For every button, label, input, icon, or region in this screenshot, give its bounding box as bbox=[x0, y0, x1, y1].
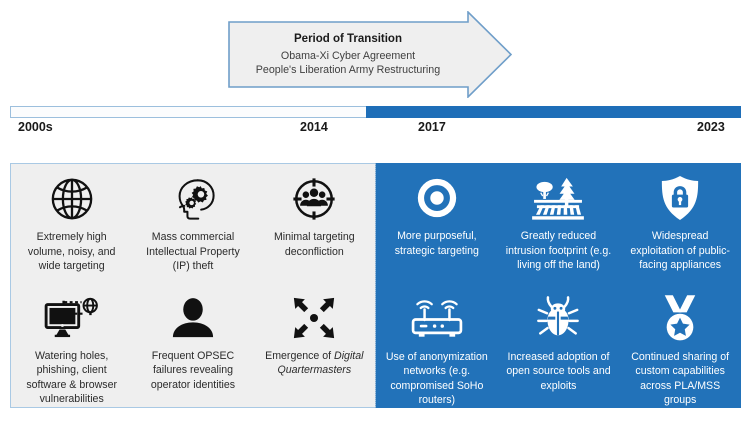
bug-icon bbox=[535, 293, 581, 345]
cell-label: Minimal targeting deconfliction bbox=[254, 230, 375, 259]
panel-post-2017: More purposeful, strategic targeting bbox=[376, 163, 741, 408]
person-silhouette-icon bbox=[170, 292, 216, 344]
panel-divider bbox=[375, 163, 376, 408]
cell-targeting-deconfliction: Minimal targeting deconfliction bbox=[254, 164, 375, 285]
cell-label: Increased adoption of open source tools … bbox=[498, 350, 620, 394]
banner-line-2: Obama-Xi Cyber Agreement bbox=[281, 49, 415, 63]
cell-reduced-footprint: Greatly reduced intrusion footprint (e.g… bbox=[498, 163, 620, 286]
cell-label: Emergence of Digital Quartermasters bbox=[254, 349, 375, 378]
medal-star-icon bbox=[660, 293, 700, 345]
head-gears-icon bbox=[169, 173, 217, 225]
cell-open-source-tools: Increased adoption of open source tools … bbox=[498, 286, 620, 409]
timeline-bar bbox=[10, 106, 741, 118]
crosshair-people-icon bbox=[291, 173, 337, 225]
converging-arrows-icon bbox=[291, 292, 337, 344]
cell-label: Continued sharing of custom capabilities… bbox=[619, 350, 741, 408]
cell-label: Frequent OPSEC failures revealing operat… bbox=[132, 349, 253, 393]
year-label-2014: 2014 bbox=[300, 120, 328, 134]
cell-label: Watering holes, phishing, client softwar… bbox=[11, 349, 132, 407]
cell-label-prefix: Emergence of bbox=[265, 350, 334, 362]
cell-anonymization-networks: Use of anonymization networks (e.g. comp… bbox=[376, 286, 498, 409]
cell-label: Use of anonymization networks (e.g. comp… bbox=[376, 350, 498, 408]
cell-strategic-targeting: More purposeful, strategic targeting bbox=[376, 163, 498, 286]
cell-opsec-failures: Frequent OPSEC failures revealing operat… bbox=[132, 285, 253, 407]
timeline-marker-2014 bbox=[366, 106, 376, 118]
year-label-2023: 2023 bbox=[697, 120, 725, 134]
period-of-transition-banner: Period of Transition Obama-Xi Cyber Agre… bbox=[228, 11, 512, 98]
panel-pre-2014: Extremely high volume, noisy, and wide t… bbox=[10, 163, 376, 408]
cell-high-volume-targeting: Extremely high volume, noisy, and wide t… bbox=[11, 164, 132, 285]
banner-text-block: Period of Transition Obama-Xi Cyber Agre… bbox=[228, 11, 468, 98]
cell-watering-holes: Watering holes, phishing, client softwar… bbox=[11, 285, 132, 407]
cell-public-facing-appliances: Widespread exploitation of public-facing… bbox=[619, 163, 741, 286]
cell-label: Widespread exploitation of public-facing… bbox=[619, 229, 741, 273]
year-label-2017: 2017 bbox=[418, 120, 446, 134]
cell-label: Mass commercial Intellectual Property (I… bbox=[132, 230, 253, 274]
cell-label: Greatly reduced intrusion footprint (e.g… bbox=[498, 229, 620, 273]
router-icon bbox=[409, 293, 465, 345]
bullseye-icon bbox=[414, 172, 460, 224]
cell-shared-capabilities: Continued sharing of custom capabilities… bbox=[619, 286, 741, 409]
shield-lock-icon bbox=[659, 172, 701, 224]
content-panels: Extremely high volume, noisy, and wide t… bbox=[10, 163, 741, 408]
banner-line-3: People's Liberation Army Restructuring bbox=[256, 63, 440, 77]
cell-ip-theft: Mass commercial Intellectual Property (I… bbox=[132, 164, 253, 285]
globe-icon bbox=[49, 173, 95, 225]
cell-digital-quartermasters: Emergence of Digital Quartermasters bbox=[254, 285, 375, 407]
banner-title: Period of Transition bbox=[294, 32, 402, 47]
farmland-trees-icon bbox=[530, 172, 586, 224]
cell-label: Extremely high volume, noisy, and wide t… bbox=[11, 230, 132, 274]
year-label-2000s: 2000s bbox=[18, 120, 53, 134]
cell-label: More purposeful, strategic targeting bbox=[376, 229, 498, 258]
timeline-segment-modern bbox=[376, 106, 741, 118]
monitor-globe-icon bbox=[43, 292, 101, 344]
timeline-segment-early bbox=[10, 106, 376, 118]
